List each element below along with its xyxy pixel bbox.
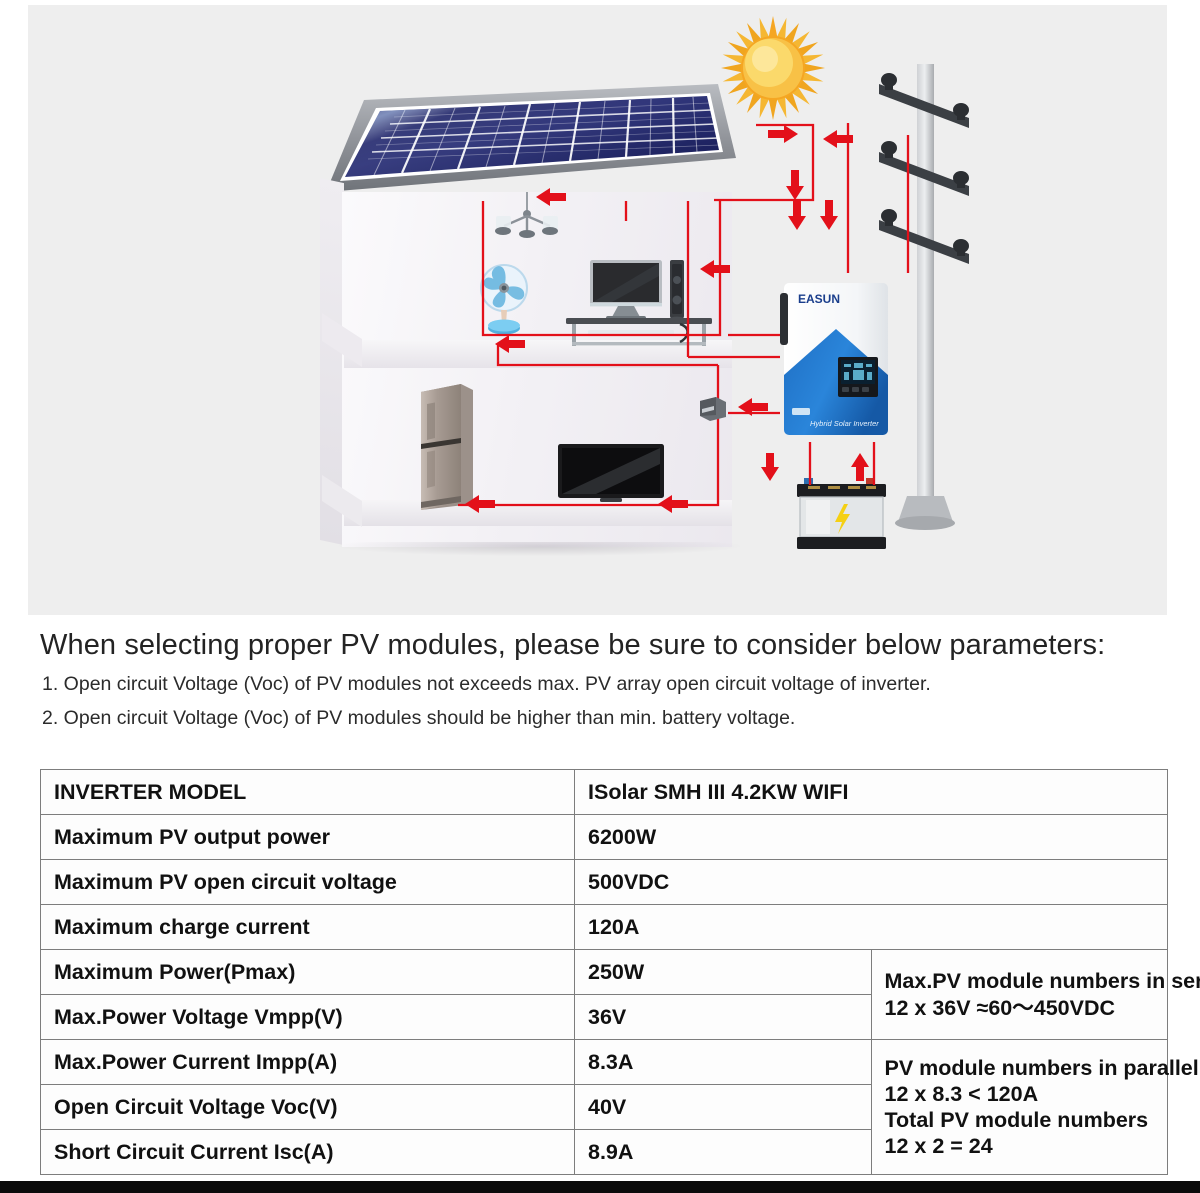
intro-note-1: 1. Open circuit Voltage (Voc) of PV modu… xyxy=(42,670,1170,699)
cell-value-max-pv-open-circuit-voltage: 500VDC xyxy=(575,860,1168,905)
system-diagram-illustration: EASUN Hybrid Solar In xyxy=(28,5,1167,615)
note-parallel-line-1: PV module numbers in parallel xyxy=(885,1055,1168,1081)
table-row: Maximum Power(Pmax) 250W Max.PV module n… xyxy=(41,950,1168,995)
cell-value-impp: 8.3A xyxy=(575,1040,872,1085)
cell-note-series: Max.PV module numbers in series 12 x 36V… xyxy=(871,950,1168,1040)
wiring-diagram xyxy=(28,5,1167,615)
intro-note-2: 2. Open circuit Voltage (Voc) of PV modu… xyxy=(42,704,1170,733)
inverter-spec-table: INVERTER MODEL ISolar SMH III 4.2KW WIFI… xyxy=(40,769,1168,1175)
intro-text-block: When selecting proper PV modules, please… xyxy=(40,625,1170,734)
cell-value-max-power-pmax: 250W xyxy=(575,950,872,995)
cell-value-max-charge-current: 120A xyxy=(575,905,1168,950)
table-row: INVERTER MODEL ISolar SMH III 4.2KW WIFI xyxy=(41,770,1168,815)
cell-value-voc: 40V xyxy=(575,1085,872,1130)
note-parallel-line-3: Total PV module numbers xyxy=(885,1107,1168,1133)
intro-heading: When selecting proper PV modules, please… xyxy=(40,625,1170,665)
cell-label-vmpp: Max.Power Voltage Vmpp(V) xyxy=(41,995,575,1040)
cell-label-max-pv-open-circuit-voltage: Maximum PV open circuit voltage xyxy=(41,860,575,905)
cell-label-max-power-pmax: Maximum Power(Pmax) xyxy=(41,950,575,995)
flow-arrows xyxy=(465,125,869,513)
table-row: Maximum PV open circuit voltage 500VDC xyxy=(41,860,1168,905)
table-row: Max.Power Current Impp(A) 8.3A PV module… xyxy=(41,1040,1168,1085)
cell-value-isc: 8.9A xyxy=(575,1130,872,1175)
cell-label-max-pv-output-power: Maximum PV output power xyxy=(41,815,575,860)
bottom-black-bar xyxy=(0,1181,1200,1193)
note-series-line-1: Max.PV module numbers in series xyxy=(885,968,1168,994)
table-row: Maximum charge current 120A xyxy=(41,905,1168,950)
cell-label-voc: Open Circuit Voltage Voc(V) xyxy=(41,1085,575,1130)
cell-label-isc: Short Circuit Current Isc(A) xyxy=(41,1130,575,1175)
cell-value-vmpp: 36V xyxy=(575,995,872,1040)
cell-note-parallel: PV module numbers in parallel 12 x 8.3 <… xyxy=(871,1040,1168,1175)
energy-meter-icon xyxy=(700,397,726,421)
note-series-line-2: 12 x 36V ≈60〜450VDC xyxy=(885,995,1168,1021)
cell-value-max-pv-output-power: 6200W xyxy=(575,815,1168,860)
note-parallel-line-2: 12 x 8.3 < 120A xyxy=(885,1081,1168,1107)
table-row: Maximum PV output power 6200W xyxy=(41,815,1168,860)
note-parallel-line-4: 12 x 2 = 24 xyxy=(885,1133,1168,1159)
cell-label-max-charge-current: Maximum charge current xyxy=(41,905,575,950)
cell-model-value: ISolar SMH III 4.2KW WIFI xyxy=(575,770,1168,815)
cell-model-label: INVERTER MODEL xyxy=(41,770,575,815)
cell-label-impp: Max.Power Current Impp(A) xyxy=(41,1040,575,1085)
